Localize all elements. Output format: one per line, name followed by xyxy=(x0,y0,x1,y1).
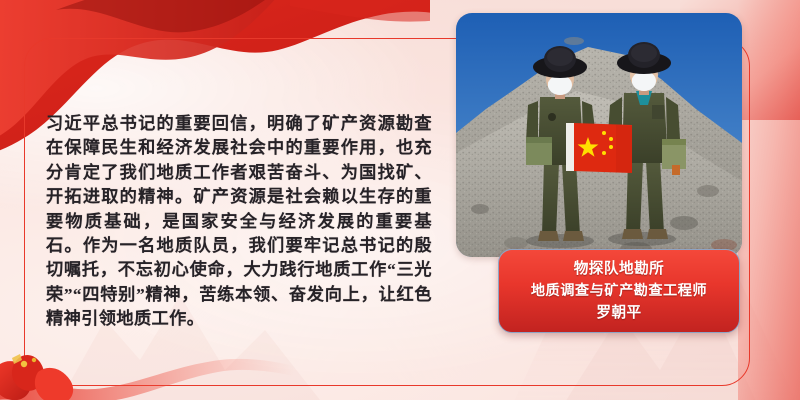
field-photo xyxy=(456,13,742,257)
caption-line-1: 物探队地勘所 xyxy=(574,259,665,280)
chinese-flag-icon xyxy=(566,123,632,173)
poster-card: 习近平总书记的重要回信，明确了矿产资源勘查在保障民生和经济发展社会中的重要作用，… xyxy=(0,0,800,400)
body-text-block: 习近平总书记的重要回信，明确了矿产资源勘查在保障民生和经济发展社会中的重要作用，… xyxy=(46,112,432,332)
caption-line-2: 地质调查与矿产勘查工程师 xyxy=(531,281,707,302)
caption-box: 物探队地勘所 地质调查与矿产勘查工程师 罗朝平 xyxy=(498,249,740,333)
geologists-with-flag-photo-icon xyxy=(456,13,742,257)
body-paragraph: 习近平总书记的重要回信，明确了矿产资源勘查在保障民生和经济发展社会中的重要作用，… xyxy=(46,112,432,332)
caption-line-3: 罗朝平 xyxy=(596,303,641,324)
